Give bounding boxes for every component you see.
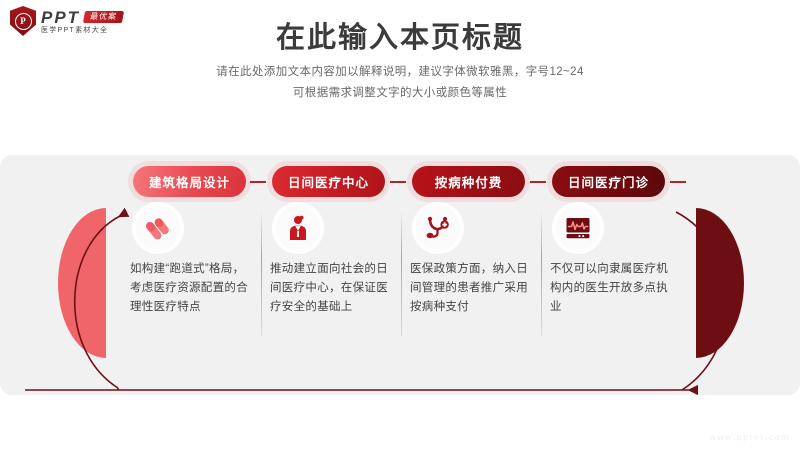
- step-column-4: 不仅可以向隶属医疗机构内的医生开放多点执业: [542, 204, 682, 354]
- doctor-icon: [276, 206, 320, 250]
- step-pill-1[interactable]: 建筑格局设计: [133, 166, 246, 197]
- capsules-icon: [136, 206, 180, 250]
- page-title: 在此输入本页标题: [0, 14, 800, 56]
- pill-connector-4: [670, 181, 686, 183]
- stethoscope-icon: [416, 206, 460, 250]
- step-pill-3[interactable]: 按病种付费: [412, 166, 525, 197]
- step-column-2: 推动建立面向社会的日间医疗中心，在保证医疗安全的基础上: [262, 204, 402, 354]
- step-pill-4[interactable]: 日间医疗门诊: [552, 166, 665, 197]
- step-text-3: 医保政策方面，纳入日间管理的患者推广采用按病种支付: [410, 260, 534, 317]
- step-pill-row: 建筑格局设计 日间医疗中心 按病种付费 日间医疗门诊: [0, 166, 800, 200]
- step-column-3: 医保政策方面，纳入日间管理的患者推广采用按病种支付: [402, 204, 542, 354]
- pill-connector-3: [530, 181, 546, 183]
- pill-connector-2: [390, 181, 406, 183]
- ecg-monitor-icon: [556, 206, 600, 250]
- step-column-1: 如构建“跑道式”格局，考虑医疗资源配置的合理性医疗特点: [122, 204, 262, 354]
- subtitle-line-2: 可根据需求调整文字的大小或颜色等属性: [0, 83, 800, 104]
- slide-root: P PPT 最优案 医学PPT素材大全 在此输入本页标题 请在此处添加文本内容加…: [0, 0, 800, 450]
- step-text-4: 不仅可以向隶属医疗机构内的医生开放多点执业: [550, 260, 674, 317]
- step-text-1: 如构建“跑道式”格局，考虑医疗资源配置的合理性医疗特点: [130, 260, 254, 317]
- step-pill-2[interactable]: 日间医疗中心: [272, 166, 385, 197]
- subtitle-line-1: 请在此处添加文本内容加以解释说明，建议字体微软雅黑，字号12~24: [0, 62, 800, 83]
- step-text-2: 推动建立面向社会的日间医疗中心，在保证医疗安全的基础上: [270, 260, 394, 317]
- pill-connector-1: [250, 181, 266, 183]
- site-watermark: www.ppter.com: [710, 433, 790, 442]
- page-subtitle: 请在此处添加文本内容加以解释说明，建议字体微软雅黑，字号12~24 可根据需求调…: [0, 62, 800, 104]
- step-columns: 如构建“跑道式”格局，考虑医疗资源配置的合理性医疗特点 推动建立面向社会的日间医…: [122, 204, 682, 354]
